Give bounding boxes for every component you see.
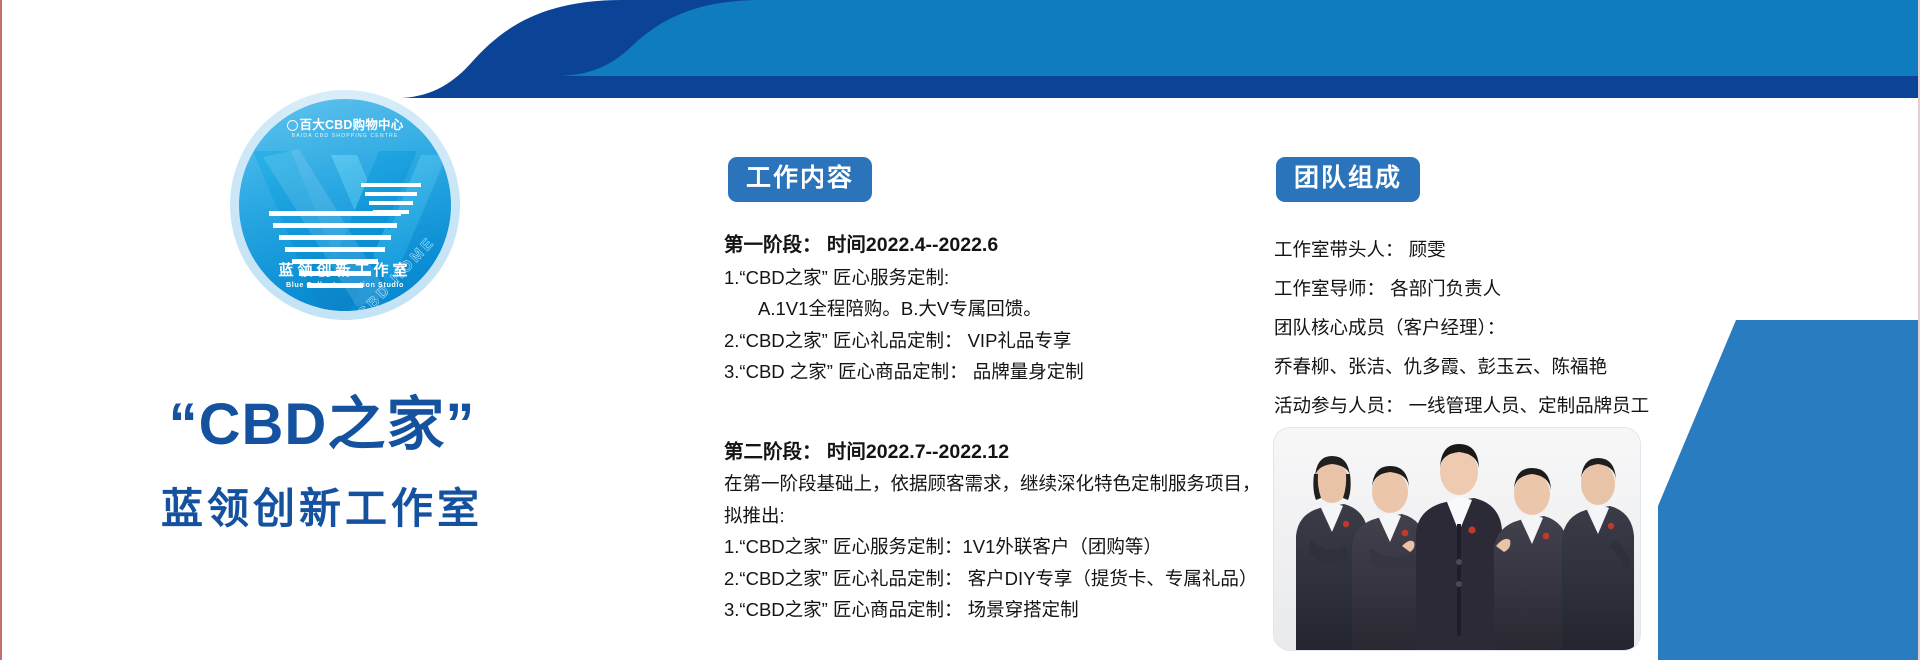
poster-title-main: “CBD之家” [2, 392, 642, 459]
studio-logo: 百大CBD购物中心 BAIDA CBD SHOPPING CENTRE CBD … [230, 90, 460, 320]
phase2-item-2: 2.“CBD之家” 匠心礼品定制： 客户DIY专享（提货卡、专属礼品） [724, 570, 1264, 589]
poster-canvas: 百大CBD购物中心 BAIDA CBD SHOPPING CENTRE CBD … [0, 0, 1920, 660]
phase2-item-1: 1.“CBD之家” 匠心服务定制：1V1外联客户（团购等） [724, 538, 1264, 557]
logo-brand-cn: 百大CBD购物中心 [239, 119, 451, 132]
phase1-title: 第一阶段： 时间2022.4--2022.6 [724, 236, 1264, 256]
team-core-label: 团队核心成员（客户经理）： [1274, 314, 1704, 340]
phase2-intro-2: 拟推出: [724, 507, 1264, 526]
logo-disc: 百大CBD购物中心 BAIDA CBD SHOPPING CENTRE CBD … [239, 99, 451, 311]
phase2-intro-1: 在第一阶段基础上，依据顾客需求，继续深化特色定制服务项目， [724, 475, 1264, 494]
logo-footer-lockup: 蓝领创新工作室 Blue Collar Innovation Studio [239, 263, 451, 289]
team-photo-illustration [1274, 428, 1640, 650]
logo-brand-lockup: 百大CBD购物中心 BAIDA CBD SHOPPING CENTRE [239, 119, 451, 139]
section-badge-work-content: 工作内容 [728, 157, 872, 202]
team-core-names: 乔春柳、张洁、仇多霞、彭玉云、陈福艳 [1274, 353, 1704, 379]
logo-brand-en: BAIDA CBD SHOPPING CENTRE [239, 134, 451, 139]
poster-headline: “CBD之家” 蓝领创新工作室 [2, 392, 642, 533]
phase1-item-3: 3.“CBD 之家” 匠心商品定制： 品牌量身定制 [724, 363, 1264, 382]
team-leader-line: 工作室带头人： 顾雯 [1274, 236, 1704, 262]
team-participants: 活动参与人员： 一线管理人员、定制品牌员工 [1274, 392, 1704, 418]
logo-footer-en: Blue Collar Innovation Studio [239, 281, 451, 289]
phase1-item-2: 2.“CBD之家” 匠心礼品定制： VIP礼品专享 [724, 332, 1264, 351]
logo-emblem-icon [287, 120, 298, 131]
poster-title-sub: 蓝领创新工作室 [2, 485, 642, 533]
team-photo [1274, 428, 1640, 650]
team-composition-column: 工作室带头人： 顾雯 工作室导师： 各部门负责人 团队核心成员（客户经理）： 乔… [1274, 236, 1704, 431]
logo-footer-cn: 蓝领创新工作室 [239, 263, 451, 279]
phase2-item-3: 3.“CBD之家” 匠心商品定制： 场景穿搭定制 [724, 601, 1264, 620]
section-badge-team-composition: 团队组成 [1276, 157, 1420, 202]
team-mentor-line: 工作室导师： 各部门负责人 [1274, 275, 1704, 301]
phase2-title: 第二阶段： 时间2022.7--2022.12 [724, 443, 1264, 463]
phase1-item-1: 1.“CBD之家” 匠心服务定制: [724, 269, 1264, 288]
work-content-column: 第一阶段： 时间2022.4--2022.6 1.“CBD之家” 匠心服务定制:… [724, 236, 1264, 633]
phase1-item-1-detail: A.1V1全程陪购。B.大V专属回馈。 [724, 300, 1264, 319]
phase-spacer [724, 395, 1264, 443]
